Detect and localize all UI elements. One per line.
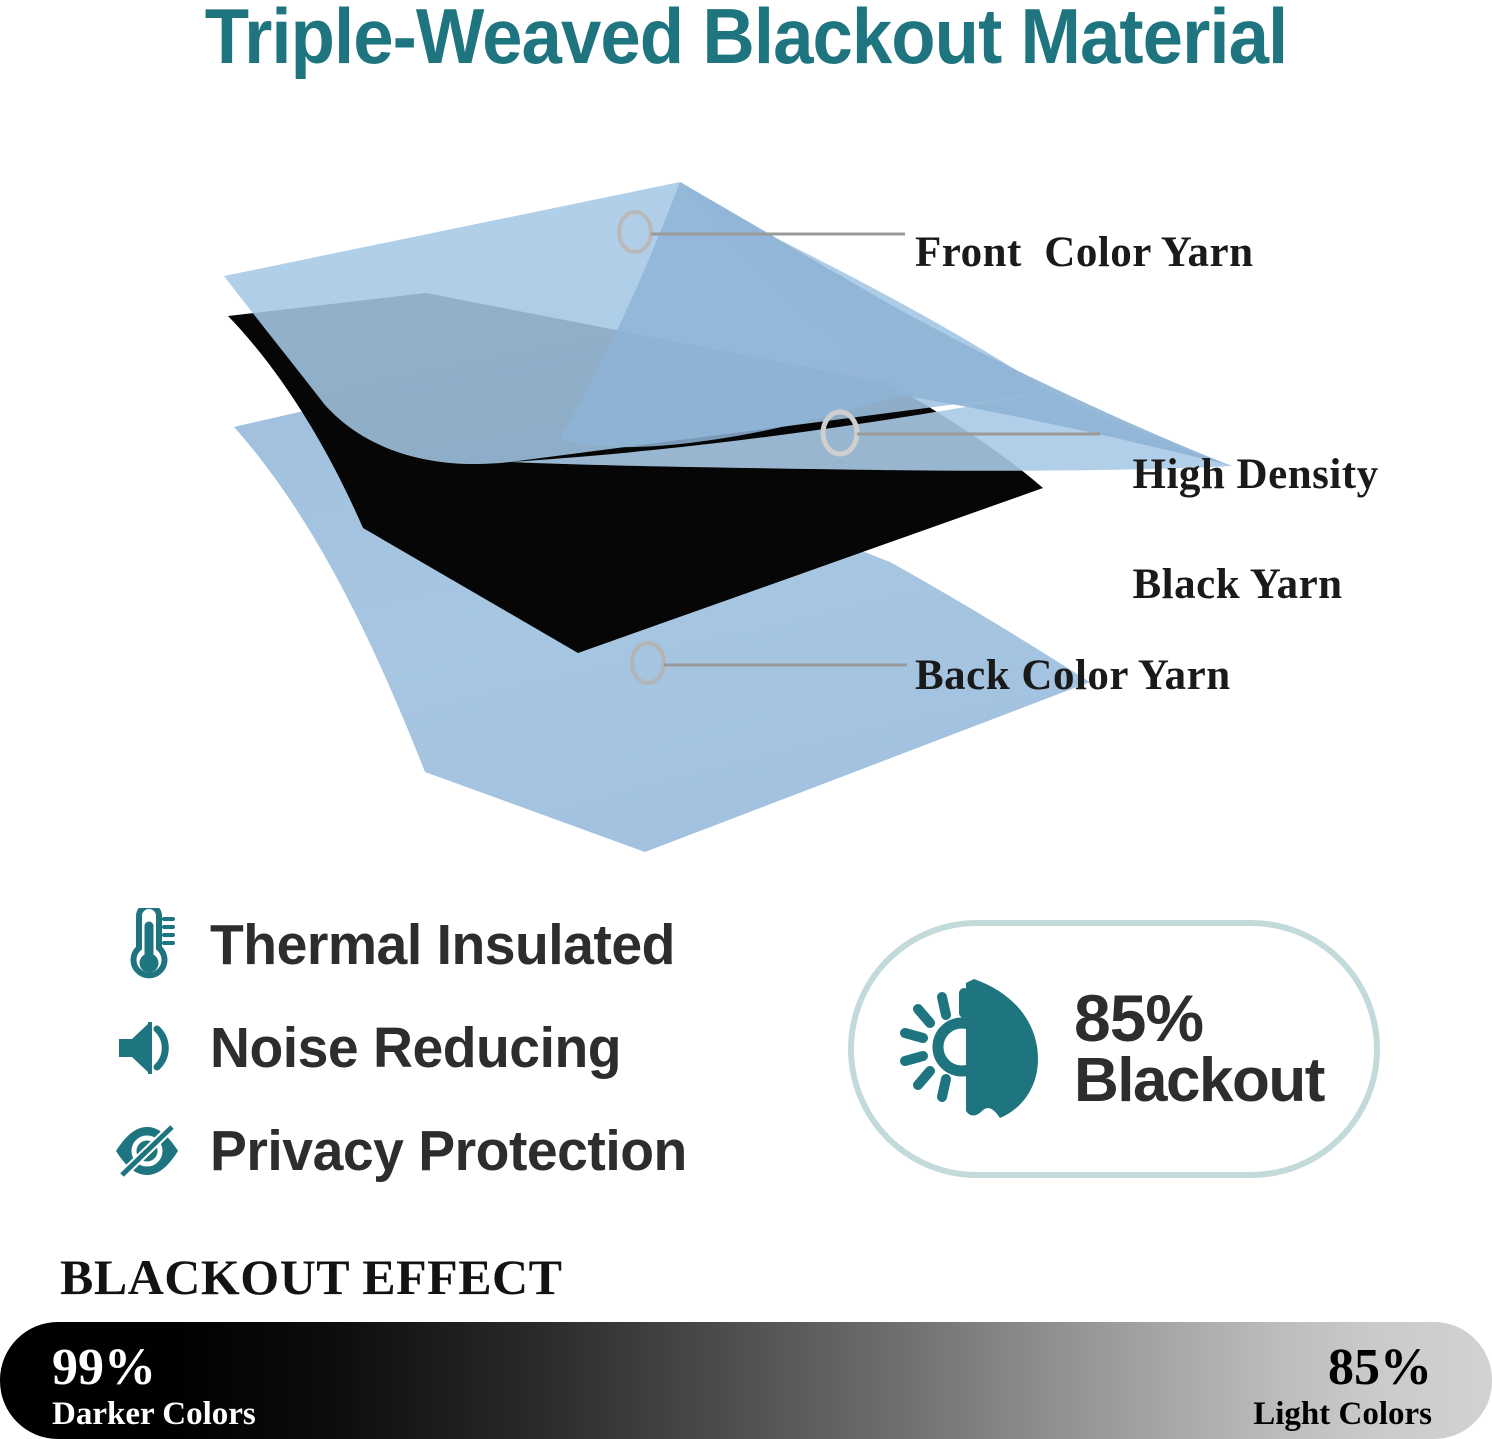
diagram-label-back-color-yarn: Back Color Yarn [915, 648, 1231, 703]
bar-stat-light-colors: 85% Light Colors [1253, 1342, 1432, 1431]
eye-slash-icon [108, 1112, 186, 1190]
diagram-label-front-color-yarn: Front Color Yarn [915, 225, 1254, 280]
blackout-effect-heading: BLACKOUT EFFECT [60, 1248, 563, 1306]
badge-word: Blackout [1074, 1051, 1324, 1112]
diagram-label-line2: Black Yarn [1133, 561, 1343, 608]
blackout-effect-gradient-bar: 99% Darker Colors 85% Light Colors [0, 1322, 1492, 1439]
bar-percent: 99% [52, 1342, 256, 1394]
diagram-label-line1: High Density [1133, 451, 1379, 498]
blackout-rating-badge: 85% Blackout [848, 920, 1380, 1178]
bar-percent: 85% [1253, 1342, 1432, 1394]
diagram-label-high-density-black-yarn: High Density Black Yarn [1110, 392, 1379, 612]
feature-label: Noise Reducing [210, 1015, 621, 1081]
feature-list: Thermal Insulated Noise Reducing Privacy… [108, 893, 828, 1202]
badge-percent: 85% [1074, 986, 1324, 1051]
sun-behind-curtain-icon [896, 975, 1048, 1123]
bar-sublabel: Light Colors [1253, 1398, 1432, 1431]
bar-stat-darker-colors: 99% Darker Colors [52, 1342, 256, 1431]
feature-thermal-insulated: Thermal Insulated [108, 893, 828, 996]
page-title: Triple-Weaved Blackout Material [52, 0, 1440, 80]
bar-sublabel: Darker Colors [52, 1398, 256, 1431]
speaker-icon [108, 1009, 186, 1087]
feature-noise-reducing: Noise Reducing [108, 996, 828, 1099]
feature-label: Thermal Insulated [210, 912, 675, 978]
badge-text-group: 85% Blackout [1074, 986, 1324, 1111]
feature-privacy-protection: Privacy Protection [108, 1099, 828, 1202]
thermometer-icon [108, 906, 186, 984]
feature-label: Privacy Protection [210, 1118, 687, 1184]
